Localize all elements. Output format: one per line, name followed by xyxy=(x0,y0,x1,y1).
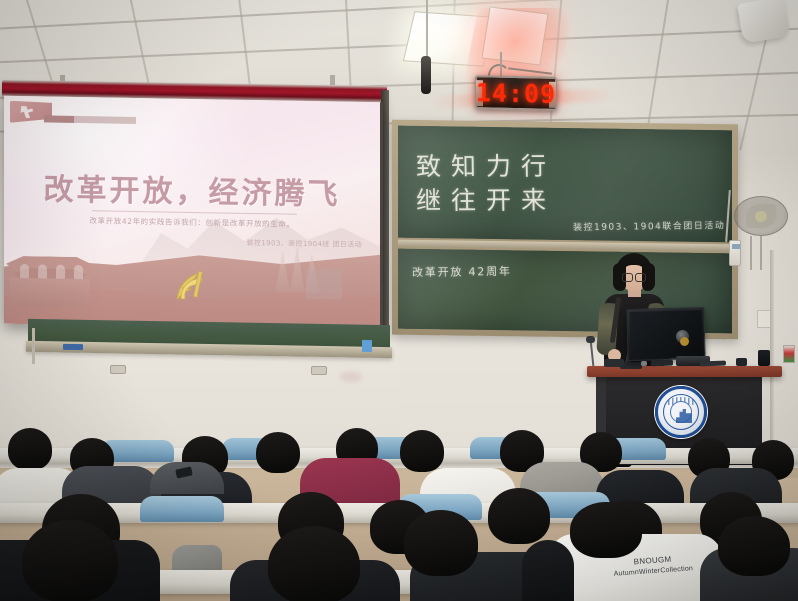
monitor-arm-knob[interactable] xyxy=(680,337,689,346)
student-head xyxy=(8,428,52,470)
student-shoulders xyxy=(522,540,574,601)
hammer-and-sickle-emblem xyxy=(169,265,215,306)
desk-item-phone[interactable] xyxy=(758,350,770,366)
microphone-head[interactable] xyxy=(586,336,595,343)
fan-pull-cord[interactable] xyxy=(760,236,762,270)
ceiling-hanging-microphone xyxy=(421,56,431,94)
chalk-text-line-1: 致知力行 xyxy=(416,147,557,183)
seat-back xyxy=(140,496,224,522)
slide-title: 改革开放，经济腾飞 xyxy=(4,164,380,215)
blackboard-frame: 致知力行 继往开来 装控1903、1904联合团日活动 改革开放 42周年 xyxy=(392,120,738,340)
presenter-glasses xyxy=(622,273,646,280)
student-head xyxy=(22,520,118,601)
wall-conduit xyxy=(32,328,35,364)
student-head xyxy=(268,526,360,601)
chalk-text-line-2: 继往开来 xyxy=(416,181,557,217)
blackboard-upper-panel: 致知力行 继往开来 装控1903、1904联合团日活动 xyxy=(398,126,732,243)
classroom-scene: 14:09 xyxy=(0,0,798,601)
chalk-text-lower: 改革开放 42周年 xyxy=(412,263,512,280)
desk-item-device[interactable] xyxy=(604,359,624,367)
slide-accent-bar-light xyxy=(74,116,136,124)
chalk-text-note: 装控1903、1904联合团日活动 xyxy=(573,218,726,233)
lectern-desktop xyxy=(587,366,782,377)
lectern-monitor[interactable] xyxy=(626,307,705,361)
slide-monument-graphic xyxy=(306,269,342,300)
desk-item-remote[interactable] xyxy=(651,360,673,367)
wall-mount-plate xyxy=(110,365,126,374)
student-head xyxy=(256,432,300,473)
student-head xyxy=(718,516,790,576)
fan-switch-box[interactable] xyxy=(729,240,741,266)
wall-sign xyxy=(783,345,795,363)
screen-bracket xyxy=(330,75,335,85)
slide-tiananmen-graphic xyxy=(6,250,102,312)
blackboard-eraser xyxy=(63,344,83,350)
desk-item-box[interactable] xyxy=(736,358,747,366)
presentation-slide: 改革开放，经济腾飞 改革开放42年的实践告诉我们：创新是改革开放的生命。 装控1… xyxy=(4,96,380,331)
wall-fan xyxy=(734,196,788,236)
clock-power-cord xyxy=(500,52,502,78)
student-head xyxy=(570,502,642,558)
wall-mount-plate xyxy=(311,366,327,375)
fan-hub xyxy=(755,211,767,222)
desk-item-small[interactable] xyxy=(641,361,647,366)
hanging-cable xyxy=(426,0,428,60)
digital-wall-clock: 14:09 xyxy=(475,75,557,111)
student-head xyxy=(488,488,550,544)
student-head xyxy=(404,510,478,576)
projection-screen: 改革开放，经济腾飞 改革开放42年的实践告诉我们：创新是改革开放的生命。 装控1… xyxy=(4,96,383,331)
wall-smudge xyxy=(340,372,362,382)
chalk-box xyxy=(362,340,372,352)
slide-accent-bar xyxy=(44,115,76,123)
desk-item-cable xyxy=(700,361,726,367)
university-emblem-seal xyxy=(655,386,707,438)
student-head xyxy=(400,430,444,472)
slide-credit: 装控1903、装控1904班 团日活动 xyxy=(247,238,362,250)
fan-pull-cord[interactable] xyxy=(750,236,752,270)
monitor-screen[interactable] xyxy=(629,310,702,358)
clock-time: 14:09 xyxy=(476,78,556,109)
